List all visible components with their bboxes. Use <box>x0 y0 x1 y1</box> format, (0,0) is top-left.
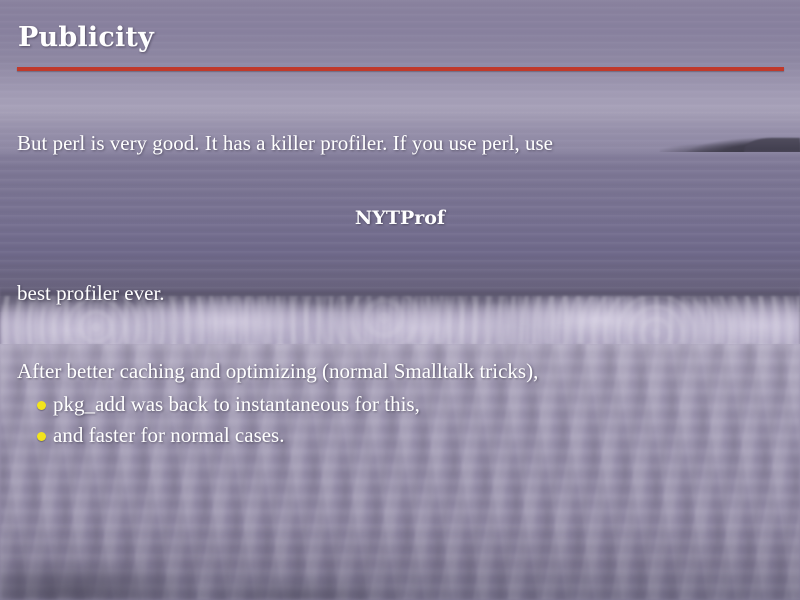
list-item-label: and faster for normal cases. <box>53 423 284 447</box>
bullet-dot-icon <box>37 401 46 410</box>
slide-title: Publicity <box>18 22 154 54</box>
title-underline-rule <box>17 67 784 71</box>
centered-emphasis-text: NYTProf <box>0 205 800 231</box>
slide-content: Publicity But perl is very good. It has … <box>0 0 800 600</box>
body-intro-line: But perl is very good. It has a killer p… <box>17 130 553 156</box>
list-item: pkg_add was back to instantaneous for th… <box>17 389 777 420</box>
body-closing-line: best profiler ever. <box>17 280 165 306</box>
list-item: and faster for normal cases. <box>17 420 777 451</box>
list-item-label: pkg_add was back to instantaneous for th… <box>53 392 420 416</box>
presentation-slide: Publicity But perl is very good. It has … <box>0 0 800 600</box>
body-after-line: After better caching and optimizing (nor… <box>17 358 538 384</box>
bullet-dot-icon <box>37 432 46 441</box>
bullet-list: pkg_add was back to instantaneous for th… <box>17 389 777 451</box>
